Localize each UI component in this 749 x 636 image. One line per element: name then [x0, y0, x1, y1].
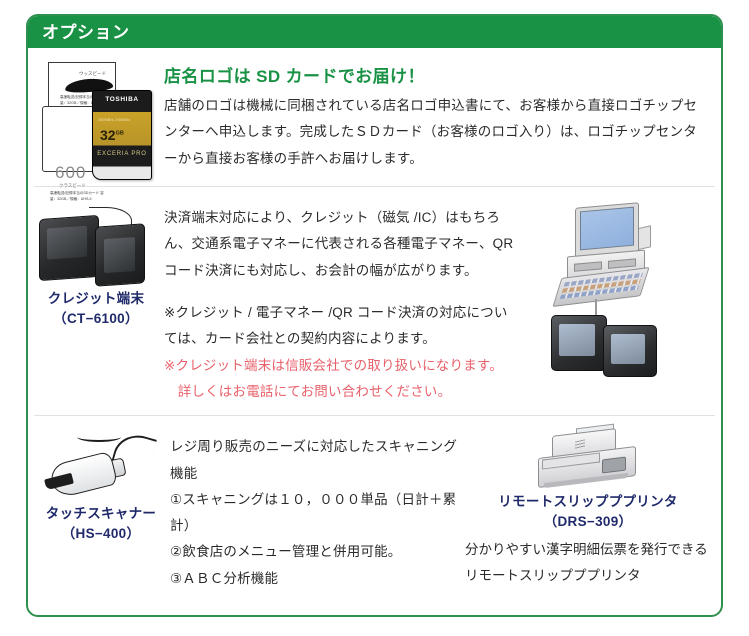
- panel-header: オプション: [28, 16, 721, 48]
- touch-scanner-media: タッチスキャナー （HS−400）: [32, 428, 170, 592]
- slip-printer-caption-line-2: リモートスリップププリンタ: [465, 563, 708, 589]
- pos-payment-terminal-screen-2: [611, 334, 645, 364]
- scanner-text: レジ周り販売のニーズに対応したスキャニング機能 ①スキャニングは１０，０００単品…: [170, 428, 463, 592]
- pos-register-printer-slot-1: [574, 261, 602, 271]
- credit-terminal-paragraph-1: 決済端末対応により、クレジット（磁気 /IC）はもちろん、交通系電子マネーに代表…: [164, 205, 519, 284]
- section-sd-card: ウッスピード 高速転送/記録本当のSDカード 容量：32GB／規格：UHS-II…: [28, 48, 721, 186]
- slip-printer-label: リモートスリップププリンタ （DRS−309）: [498, 492, 677, 531]
- sd-card-capacity-unit: GB: [116, 130, 124, 136]
- pos-payment-terminal-1: [551, 315, 607, 371]
- credit-terminal-screen-right: [104, 237, 135, 273]
- credit-terminal-paragraph-2: ※クレジット / 電子マネー /QR コード決済の対応については、カード会社との…: [164, 300, 519, 353]
- sd-card-capacity-number: 32: [100, 127, 116, 143]
- slip-printer-caption: 分かりやすい漢字明細伝票を発行できる リモートスリップププリンタ: [463, 537, 708, 588]
- slip-printer-caption-line-1: 分かりやすい漢字明細伝票を発行できる: [465, 537, 708, 563]
- sd-card-text: 店名ロゴは SD カードでお届け！ 店舗のロゴは機械に同梱されている店名ロゴ申込…: [160, 58, 711, 178]
- option-panel: オプション ウッスピード 高速転送/記録本当のSDカード 容量：32GB／規格：…: [26, 14, 723, 617]
- sd-package-kana-top: ウッスピード: [79, 71, 106, 77]
- credit-terminal-device-right: [95, 223, 145, 286]
- sd-card-media: ウッスピード 高速転送/記録本当のSDカード 容量：32GB／規格：UHS-II…: [32, 58, 160, 178]
- sd-card-series: EXCERIA PRO: [93, 151, 151, 157]
- slip-printer-media: リモートスリップププリンタ （DRS−309） 分かりやすい漢字明細伝票を発行で…: [463, 428, 713, 592]
- scanner-feature-3: ③ＡＢＣ分析機能: [170, 566, 459, 592]
- touch-scanner-label: タッチスキャナー （HS−400）: [46, 504, 156, 543]
- slip-printer-label-name: リモートスリップププリンタ: [498, 492, 677, 512]
- sd-card-paragraph: 店舗のロゴは機械に同梱されている店名ロゴ申込書にて、お客様から直接ロゴチップセン…: [164, 93, 705, 172]
- credit-terminal-label: クレジット端末 （CT−6100）: [48, 289, 145, 328]
- touch-scanner-label-model: （HS−400）: [46, 524, 156, 544]
- slip-printer-vent: [575, 439, 585, 449]
- sd-package-number: 600: [55, 163, 86, 183]
- page-title: オプション: [42, 24, 130, 41]
- pos-register-printer-slot-2: [608, 258, 636, 268]
- slip-printer-photo: [532, 430, 644, 492]
- pos-payment-terminal-2: [603, 325, 657, 377]
- slip-printer-label-model: （DRS−309）: [498, 512, 677, 532]
- credit-terminal-text: 決済端末対応により、クレジット（磁気 /IC）はもちろん、交通系電子マネーに代表…: [160, 197, 523, 405]
- credit-terminal-media: クレジット端末 （CT−6100）: [32, 197, 160, 405]
- credit-terminal-device-left: [39, 215, 99, 281]
- sd-card-speed: 260MB/s 240MB/s: [98, 118, 130, 122]
- pos-register-media: [523, 197, 713, 405]
- scanner-feature-1: ①スキャニングは１０，０００単品（日計＋累計）: [170, 487, 459, 540]
- credit-terminal-screen-left: [47, 226, 87, 260]
- sd-card-capacity: 32GB: [100, 127, 124, 143]
- touch-scanner-cable-arc: [77, 432, 121, 442]
- credit-terminal-notice-2: 詳しくはお電話にてお問い合わせください。: [164, 379, 519, 405]
- sd-card-heading: 店名ロゴは SD カードでお届け！: [164, 62, 705, 87]
- credit-terminal-photo: [37, 203, 155, 289]
- touch-scanner-label-name: タッチスキャナー: [46, 504, 156, 524]
- credit-terminal-label-name: クレジット端末: [48, 289, 145, 309]
- scanner-feature-2: ②飲食店のメニュー管理と併用可能。: [170, 539, 459, 565]
- credit-terminal-label-model: （CT−6100）: [48, 309, 145, 329]
- credit-terminal-notice-1: ※クレジット端末は信販会社での取り扱いになります。: [164, 353, 519, 379]
- sd-card-brand: TOSHIBA: [93, 96, 151, 103]
- pos-register-screen: [580, 207, 634, 251]
- sd-card-body: TOSHIBA 260MB/s 240MB/s 32GB EXCERIA PRO: [92, 90, 152, 180]
- sd-card-photo: ウッスピード 高速転送/記録本当のSDカード 容量：32GB／規格：UHS-II…: [40, 60, 152, 178]
- pos-register-monitor: [575, 202, 639, 258]
- section-scanner-printer: タッチスキャナー （HS−400） レジ周り販売のニーズに対応したスキャニング機…: [28, 416, 721, 602]
- pos-register-photo: [529, 203, 707, 375]
- pos-payment-terminal-screen-1: [559, 324, 595, 356]
- scanner-feature-intro: レジ周り販売のニーズに対応したスキャニング機能: [170, 434, 459, 487]
- section-credit-terminal: クレジット端末 （CT−6100） 決済端末対応により、クレジット（磁気 /IC…: [28, 187, 721, 415]
- touch-scanner-photo: [37, 432, 165, 504]
